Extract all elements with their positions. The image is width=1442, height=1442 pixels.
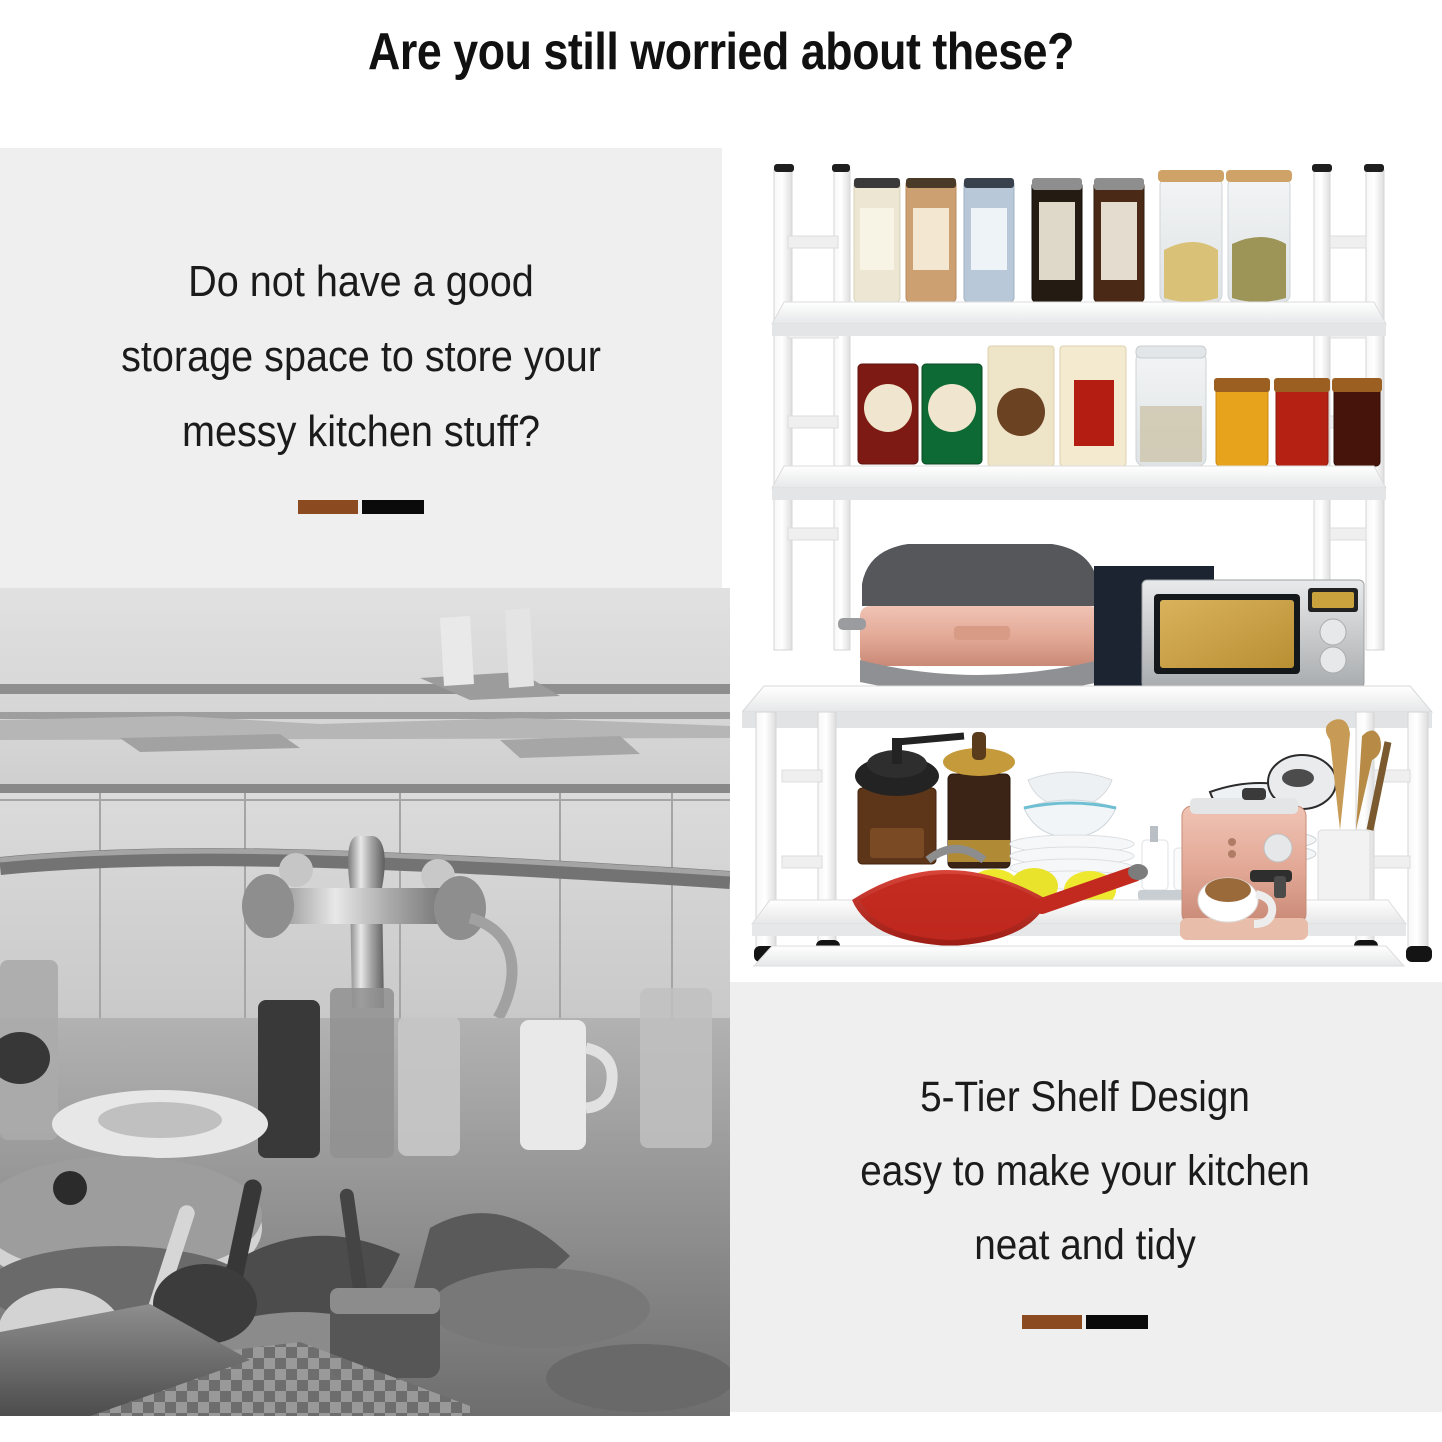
feature-line-3: neat and tidy [764, 1208, 1407, 1282]
feature-line-1: 5-Tier Shelf Design [764, 1060, 1407, 1134]
tier-2-items [858, 346, 1382, 466]
feature-statement-text: 5-Tier Shelf Design easy to make your ki… [764, 1060, 1407, 1282]
problem-line-1: Do not have a good [36, 244, 686, 319]
problem-line-3: messy kitchen stuff? [36, 394, 686, 469]
product-image-5-tier-kitchen-bakers-rack [742, 140, 1442, 970]
page-title: Are you still worried about these? [101, 22, 1341, 82]
tier-1-items [854, 170, 1292, 302]
tier-3-items [838, 544, 1364, 695]
problem-statement-panel: Do not have a good storage space to stor… [0, 148, 722, 588]
problem-line-2: storage space to store your [36, 319, 686, 394]
feature-statement-panel: 5-Tier Shelf Design easy to make your ki… [728, 982, 1442, 1412]
problem-divider [298, 500, 424, 514]
divider-bar-black [1086, 1315, 1148, 1329]
divider-bar-black [362, 500, 424, 514]
feature-divider [1022, 1315, 1148, 1329]
problem-statement-text: Do not have a good storage space to stor… [36, 244, 686, 469]
messy-kitchen-sink-photo [0, 588, 730, 1416]
divider-bar-brown [298, 500, 358, 514]
divider-bar-brown [1022, 1315, 1082, 1329]
feature-line-2: easy to make your kitchen [764, 1134, 1407, 1208]
